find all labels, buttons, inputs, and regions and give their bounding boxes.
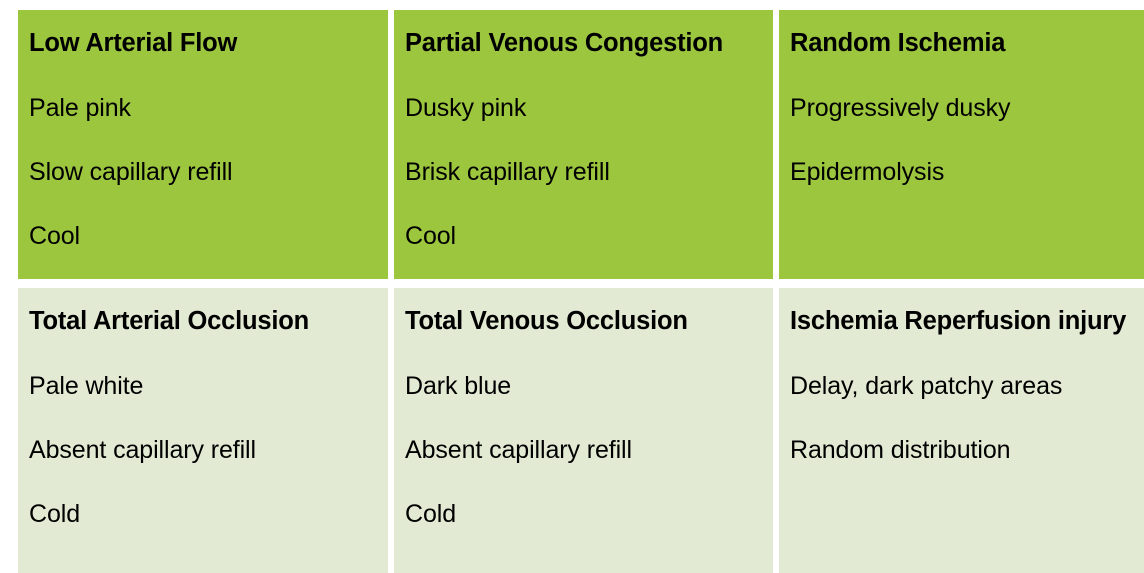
cell-line: Cold bbox=[405, 499, 759, 529]
cell-line: Random distribution bbox=[790, 435, 1142, 465]
cell-title: Total Arterial Occlusion bbox=[29, 306, 374, 338]
cell-line: Dusky pink bbox=[405, 93, 759, 123]
cell-line: Epidermolysis bbox=[790, 157, 1142, 187]
flap-compromise-table: Low Arterial Flow Pale pink Slow capilla… bbox=[18, 10, 1144, 564]
cell-lines: Delay, dark patchy areas Random distribu… bbox=[790, 371, 1142, 465]
cell-lines: Pale white Absent capillary refill Cold bbox=[29, 371, 374, 529]
table-cell-partial-venous-congestion: Partial Venous Congestion Dusky pink Bri… bbox=[394, 10, 773, 279]
table-cell-ischemia-reperfusion-injury: Ischemia Reperfusion injury Delay, dark … bbox=[779, 288, 1144, 573]
cell-line: Progressively dusky bbox=[790, 93, 1142, 123]
cell-line: Cool bbox=[29, 221, 374, 251]
cell-line: Absent capillary refill bbox=[29, 435, 374, 465]
cell-lines: Progressively dusky Epidermolysis bbox=[790, 93, 1142, 187]
cell-line: Pale white bbox=[29, 371, 374, 401]
cell-lines: Dusky pink Brisk capillary refill Cool bbox=[405, 93, 759, 251]
cell-title: Low Arterial Flow bbox=[29, 28, 374, 60]
cell-line: Dark blue bbox=[405, 371, 759, 401]
cell-line: Cool bbox=[405, 221, 759, 251]
cell-line: Absent capillary refill bbox=[405, 435, 759, 465]
cell-line: Brisk capillary refill bbox=[405, 157, 759, 187]
cell-title: Partial Venous Congestion bbox=[405, 28, 759, 60]
table-cell-total-venous-occlusion: Total Venous Occlusion Dark blue Absent … bbox=[394, 288, 773, 573]
cell-lines: Pale pink Slow capillary refill Cool bbox=[29, 93, 374, 251]
cell-line: Cold bbox=[29, 499, 374, 529]
cell-line: Pale pink bbox=[29, 93, 374, 123]
table-cell-low-arterial-flow: Low Arterial Flow Pale pink Slow capilla… bbox=[18, 10, 388, 279]
table-cell-total-arterial-occlusion: Total Arterial Occlusion Pale white Abse… bbox=[18, 288, 388, 573]
cell-line: Delay, dark patchy areas bbox=[790, 371, 1142, 401]
cell-title: Total Venous Occlusion bbox=[405, 306, 759, 338]
table-cell-random-ischemia: Random Ischemia Progressively dusky Epid… bbox=[779, 10, 1144, 279]
cell-lines: Dark blue Absent capillary refill Cold bbox=[405, 371, 759, 529]
cell-title: Ischemia Reperfusion injury bbox=[790, 306, 1142, 338]
cell-line: Slow capillary refill bbox=[29, 157, 374, 187]
cell-title: Random Ischemia bbox=[790, 28, 1142, 60]
